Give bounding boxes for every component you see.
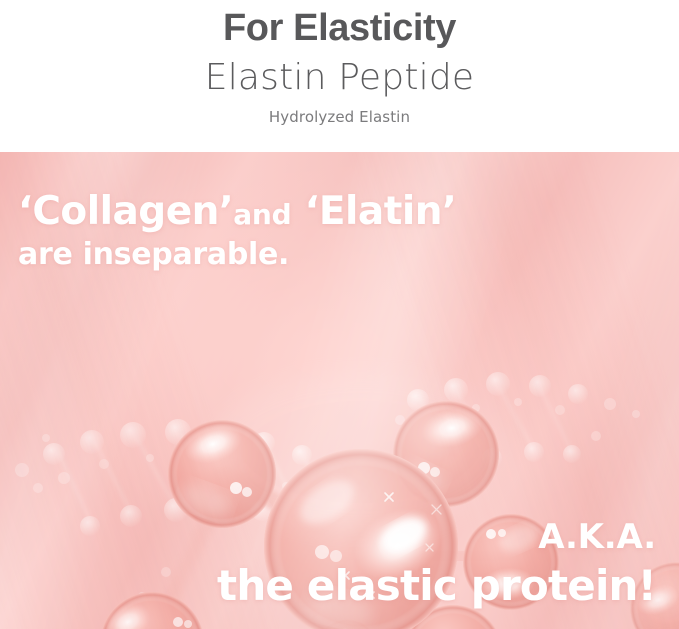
page-title: For Elasticity bbox=[0, 0, 679, 51]
hero-panel: ‘Collagen’and ‘Elatin’ are inseparable. … bbox=[0, 152, 679, 629]
footer-tagline: the elastic protein! bbox=[217, 565, 656, 607]
ingredient-name: Hydrolyzed Elastin bbox=[0, 99, 679, 126]
headline-line-2: are inseparable. bbox=[18, 240, 289, 270]
footer-aka-label: A.K.A. bbox=[538, 520, 656, 554]
headline-collagen: ‘Collagen’ bbox=[18, 189, 233, 234]
headline-and: and bbox=[233, 198, 291, 231]
page-subtitle: Elastin Peptide bbox=[0, 51, 679, 99]
headline-line-1: ‘Collagen’and ‘Elatin’ bbox=[18, 192, 456, 231]
headline-elatin: ‘Elatin’ bbox=[305, 189, 457, 234]
product-header: For Elasticity Elastin Peptide Hydrolyze… bbox=[0, 0, 679, 152]
